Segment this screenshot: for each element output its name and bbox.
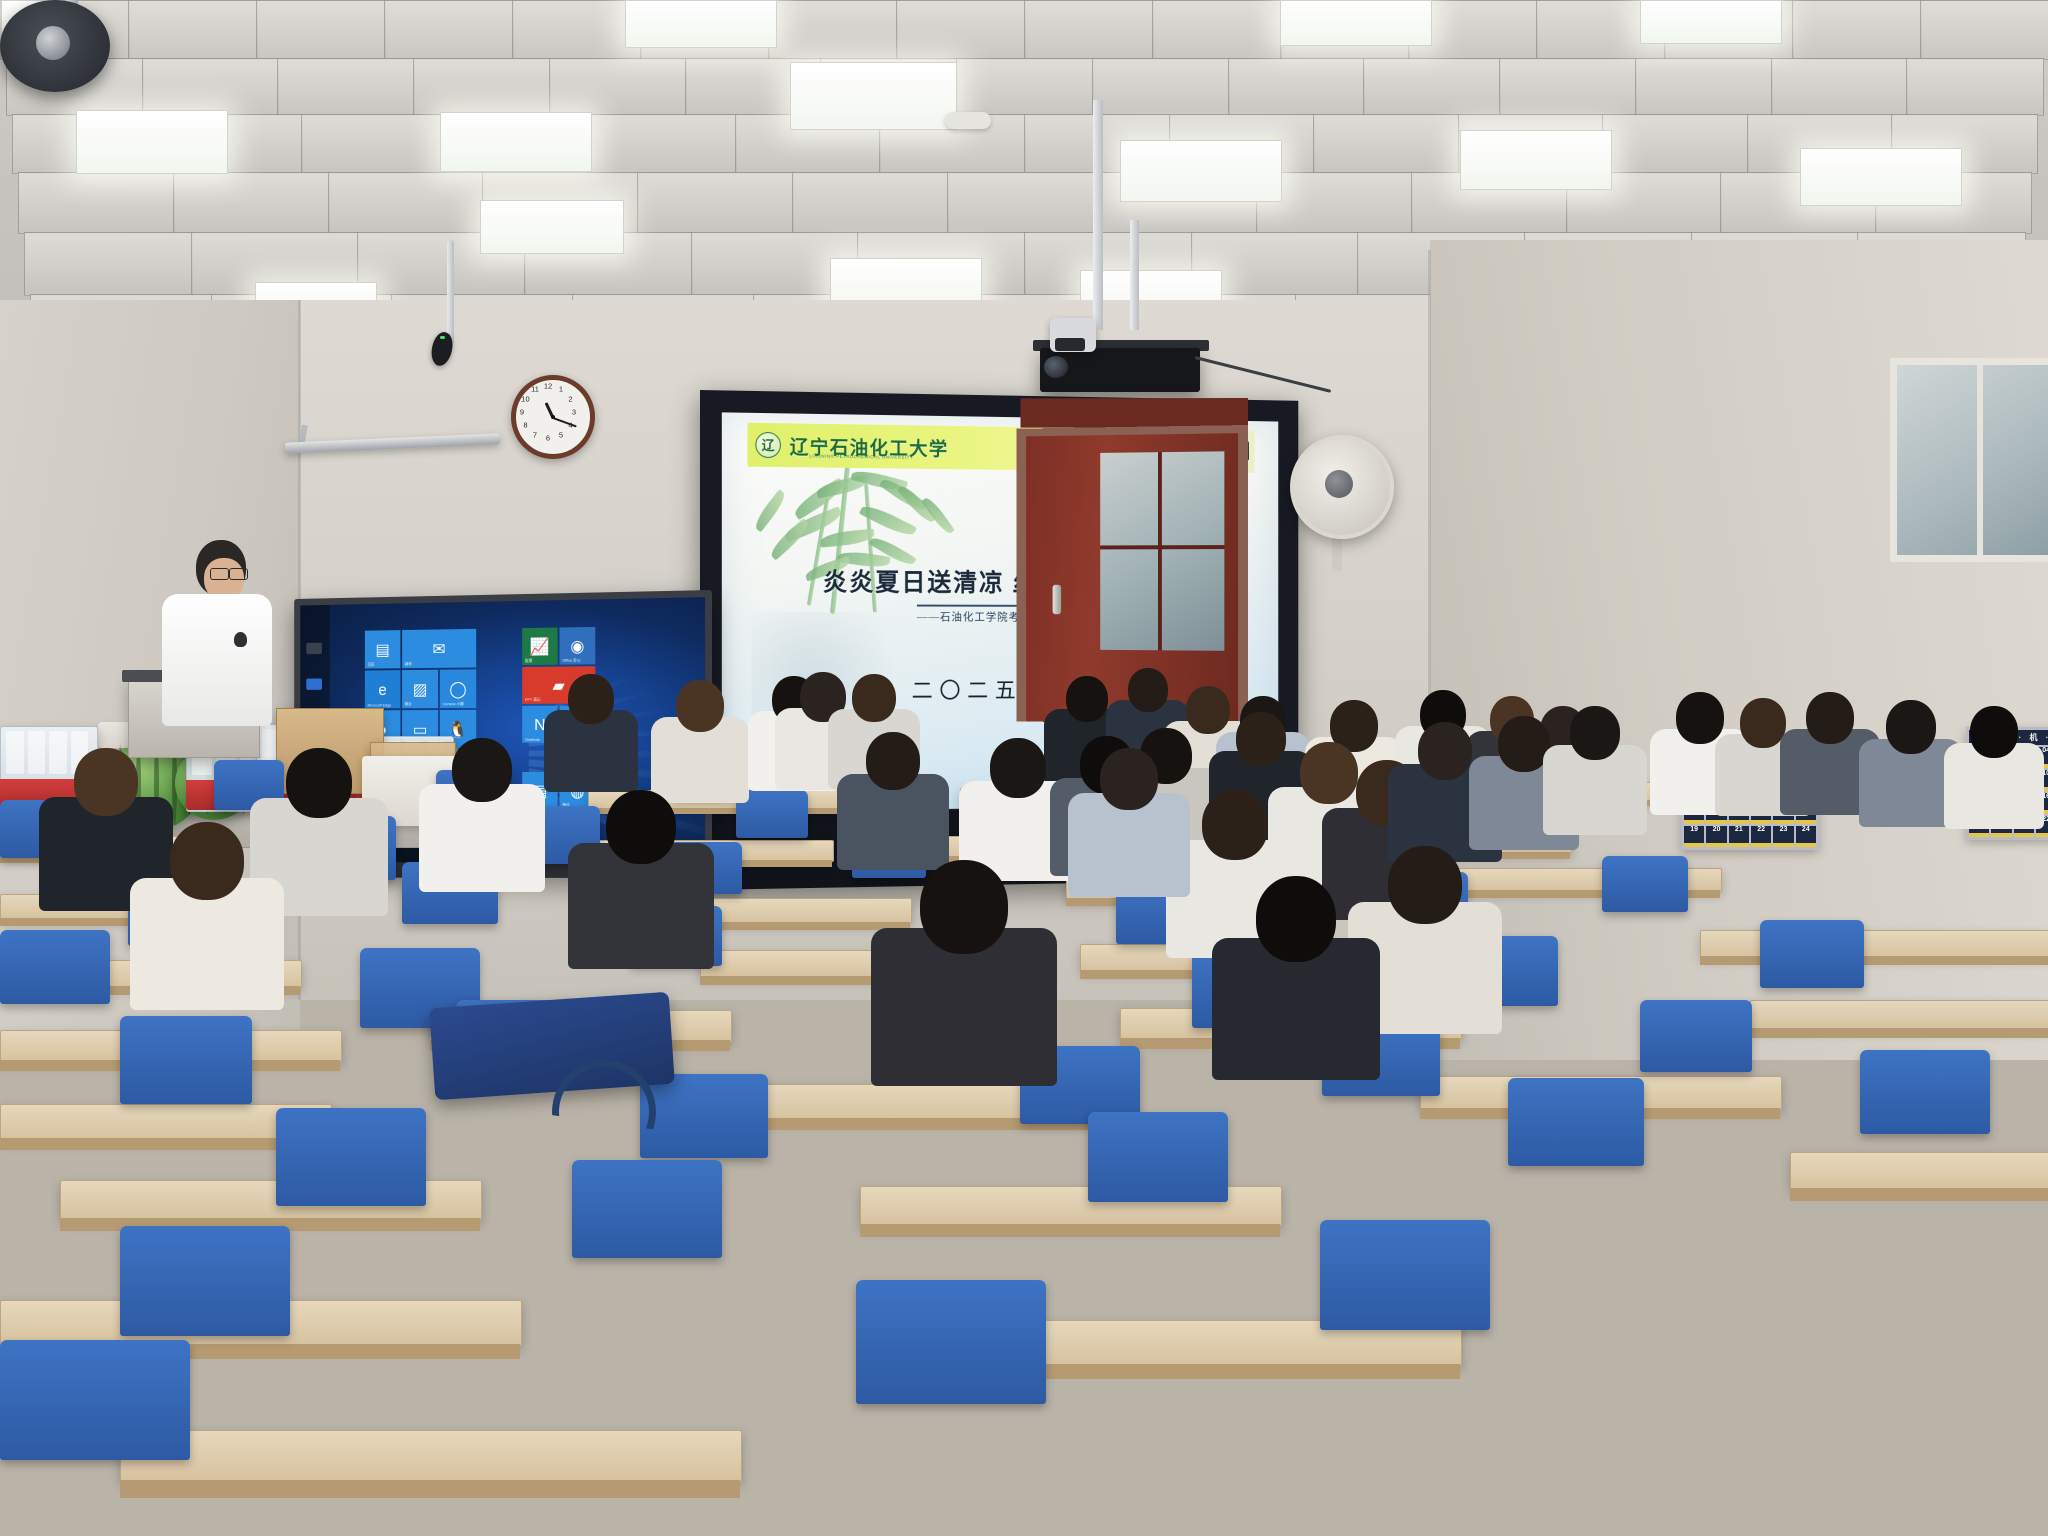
ceiling-light-panel — [1460, 130, 1612, 190]
ceiling-tile — [128, 0, 258, 60]
start-tile[interactable]: 📈股票 — [522, 628, 557, 666]
mail-icon: ✉ — [433, 640, 446, 656]
start-tile-label: Office 办公 — [562, 658, 580, 664]
ceiling-tile — [549, 58, 687, 116]
audience-head — [1740, 698, 1786, 748]
classroom-chair — [1760, 920, 1864, 988]
menu-button[interactable] — [306, 643, 322, 654]
ceiling-tile — [768, 0, 898, 60]
water-bottle — [49, 731, 67, 774]
audience-head — [568, 674, 614, 724]
audience-head — [1100, 748, 1158, 810]
audience-head — [1202, 790, 1268, 860]
classroom-chair — [1860, 1050, 1990, 1134]
ceiling-tile — [328, 172, 485, 234]
classroom-chair — [856, 1280, 1046, 1404]
desk-edge — [1700, 956, 2048, 965]
audience-head — [866, 732, 920, 790]
clock-number: 8 — [523, 421, 527, 430]
desk-edge — [860, 1224, 1280, 1237]
clock-number: 12 — [544, 382, 552, 391]
photos-icon: ▨ — [413, 681, 427, 697]
office-icon: ◉ — [570, 637, 584, 654]
desk-edge — [1750, 1028, 2048, 1038]
ceiling-tile — [792, 172, 949, 234]
window-mullion — [1977, 365, 1983, 555]
start-tile-label: 邮件 — [405, 661, 412, 667]
classroom-window — [1890, 358, 2048, 562]
start-tile[interactable]: ✉邮件 — [402, 629, 476, 668]
presenter-glasses-icon — [229, 568, 248, 580]
ceiling-light-panel — [1640, 0, 1782, 44]
audience-head — [1806, 692, 1854, 744]
audience-head — [676, 680, 724, 732]
phone-pocket: 19 — [1684, 826, 1704, 847]
ceiling-tile — [896, 0, 1026, 60]
audience-head — [1886, 700, 1936, 754]
ceiling-tile — [590, 114, 737, 174]
ceiling-tile — [1024, 0, 1154, 60]
ceiling-tile — [277, 58, 415, 116]
phone-pocket: 24 — [1796, 826, 1816, 847]
ceiling-light-panel — [1120, 140, 1282, 202]
start-tile-label: 股票 — [525, 658, 532, 664]
audience-head — [990, 738, 1046, 798]
ceiling-light-panel — [1800, 148, 1962, 206]
audience-head — [1300, 742, 1358, 804]
ceiling-fan — [0, 0, 110, 92]
wall-clock: 121234567891011 — [511, 375, 595, 459]
audience-head — [1570, 706, 1620, 760]
audience-head — [1066, 676, 1108, 722]
camera-mount-pole — [1130, 220, 1139, 330]
edge-icon: e — [378, 681, 386, 697]
audience-head — [920, 860, 1008, 954]
ceiling-tile — [301, 114, 448, 174]
desk-edge — [1790, 1188, 2048, 1201]
presenter-torso — [162, 594, 272, 726]
audience-head — [286, 748, 352, 818]
classroom-chair — [640, 1074, 768, 1158]
door-glass-pane — [1100, 451, 1224, 651]
desk-edge — [120, 1480, 740, 1498]
clock-number: 5 — [559, 430, 563, 439]
source-button[interactable] — [306, 678, 322, 689]
fan-hub — [36, 26, 70, 60]
shirt-logo-icon — [234, 632, 247, 647]
phone-pocket: 21 — [1729, 826, 1749, 847]
start-tile-label: Microsoft Edge — [368, 703, 392, 708]
calendar-icon: ▤ — [375, 641, 389, 657]
camera-lens-icon — [1055, 338, 1085, 351]
audience-head — [1970, 706, 2018, 758]
audience-head — [1128, 668, 1168, 712]
ceiling-tile — [1792, 0, 1922, 60]
ceiling-light-panel — [480, 200, 624, 254]
stocks-icon: 📈 — [530, 638, 550, 655]
start-tile[interactable]: ▤日历 — [365, 630, 400, 669]
door-handle[interactable] — [1053, 585, 1062, 614]
clock-minute-hand — [553, 417, 577, 427]
phone-pocket: 20 — [1706, 826, 1726, 847]
ceiling-tile — [1092, 58, 1230, 116]
ceiling-light-panel — [625, 0, 777, 48]
clock-number: 2 — [568, 395, 572, 404]
ceiling-tile — [1313, 114, 1460, 174]
ceiling-tile — [1363, 58, 1501, 116]
clock-number: 10 — [521, 395, 529, 404]
audience-head — [1236, 712, 1286, 766]
ceiling-tile — [947, 172, 1104, 234]
classroom-chair — [0, 930, 110, 1004]
phone-pocket: 23 — [1773, 826, 1793, 847]
ceiling-light-panel — [790, 62, 957, 130]
audience-head — [452, 738, 512, 802]
clock-number: 11 — [531, 385, 539, 394]
classroom-chair — [1088, 1112, 1228, 1202]
audience-head — [1186, 686, 1230, 734]
audience-head — [74, 748, 138, 816]
door-mullion — [1100, 545, 1224, 549]
classroom-chair — [1320, 1220, 1490, 1330]
start-tile[interactable]: ▨照片 — [402, 670, 438, 709]
clock-center-pin — [551, 415, 555, 419]
audience-head — [170, 822, 244, 900]
start-tile[interactable]: ◉Office 办公 — [559, 627, 595, 665]
presenter-glasses-icon — [210, 568, 229, 580]
classroom-scene: 121234567891011 辽 辽宁石油化工大学 LIAONING PETR… — [0, 0, 2048, 1536]
phone-pocket: 22 — [1751, 826, 1771, 847]
audience-head — [606, 790, 676, 864]
door-mullion — [1158, 452, 1162, 650]
audience-head — [1418, 722, 1472, 780]
ceiling-tile — [1771, 58, 1909, 116]
classroom-desk — [1750, 1000, 2048, 1030]
ceiling-tile — [512, 0, 642, 60]
classroom-chair — [572, 1160, 722, 1258]
start-tile-label: PPT 演示 — [525, 697, 541, 703]
ceiling-tile — [24, 232, 193, 296]
ceiling-tile — [1152, 0, 1282, 60]
audience-head — [1388, 846, 1462, 924]
remote-desktop-icon: ▭ — [413, 721, 427, 737]
ceiling-light-panel — [1280, 0, 1432, 46]
classroom-chair — [1640, 1000, 1752, 1072]
ceiling-tile — [1499, 58, 1637, 116]
classroom-chair — [120, 1016, 252, 1104]
ceiling-light-panel — [76, 110, 228, 174]
water-bottle — [28, 731, 46, 774]
clock-face: 121234567891011 — [516, 380, 590, 454]
classroom-desk — [1790, 1152, 2048, 1190]
classroom-chair — [120, 1226, 290, 1336]
microphone-pole — [447, 240, 454, 345]
ceiling-tile — [1920, 0, 2048, 60]
classroom-desk — [1700, 930, 2048, 958]
bamboo-leaf — [767, 518, 812, 561]
projector-lens-icon — [1044, 356, 1068, 378]
start-tile-label: 日历 — [368, 662, 375, 668]
university-logo-icon: 辽 — [755, 432, 781, 458]
ceiling-tile — [637, 172, 794, 234]
classroom-chair — [1602, 856, 1688, 912]
start-tile-label: Cortana 小娜 — [443, 701, 464, 707]
qq-icon: 🐧 — [448, 721, 467, 737]
ceiling-tile — [956, 58, 1094, 116]
clock-number: 9 — [520, 408, 524, 417]
bamboo-leaf — [752, 489, 789, 532]
ceiling-tile — [413, 58, 551, 116]
powerpoint-icon: ▰ — [552, 677, 564, 694]
classroom-chair — [0, 1340, 190, 1460]
door-transom — [1021, 398, 1248, 428]
start-tile-label: OneNote — [525, 737, 540, 742]
projector-mount-pole — [1093, 100, 1103, 330]
ceiling-tile — [173, 172, 330, 234]
classroom-chair — [1508, 1078, 1644, 1166]
microphone-led-indicator — [440, 336, 445, 339]
clock-number: 3 — [572, 408, 576, 417]
bamboo-leaf — [819, 529, 875, 548]
cortana-icon: ◯ — [449, 681, 466, 697]
university-logo-glyph: 辽 — [762, 438, 775, 451]
audience-head — [1676, 692, 1724, 744]
water-bottle — [6, 731, 24, 774]
ceiling-tile — [384, 0, 514, 60]
ceiling-tile — [18, 172, 175, 234]
start-tile[interactable]: eMicrosoft Edge — [365, 670, 400, 708]
window-glass — [1897, 365, 2048, 555]
ceiling-tile — [1228, 58, 1366, 116]
clock-number: 1 — [559, 385, 563, 394]
clock-number: 7 — [533, 430, 537, 439]
start-tile[interactable]: ◯Cortana 小娜 — [440, 669, 476, 708]
ceiling-tile — [142, 58, 280, 116]
audience-head — [1256, 876, 1336, 962]
classroom-desk — [120, 1430, 742, 1482]
ceiling-tile — [1602, 114, 1749, 174]
wall-fan-hub — [1325, 470, 1353, 498]
ceiling-tile — [1635, 58, 1773, 116]
ceiling-light-panel — [440, 112, 592, 172]
clock-number: 6 — [546, 434, 550, 443]
ceiling-tile — [1906, 58, 2044, 116]
smoke-detector-icon — [945, 112, 991, 129]
audience-head — [852, 674, 896, 722]
ceiling-tile — [256, 0, 386, 60]
classroom-chair — [276, 1108, 426, 1206]
start-tile-label: 照片 — [405, 702, 412, 708]
